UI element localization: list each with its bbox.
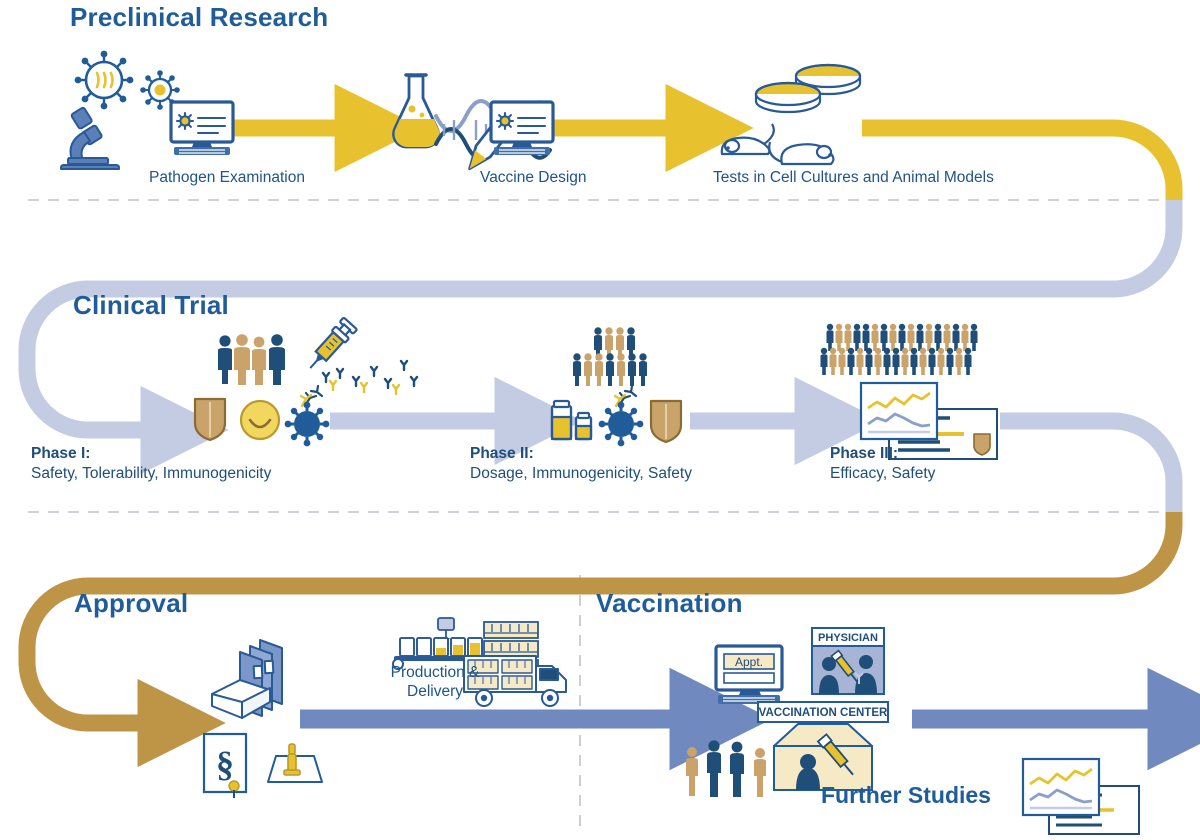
stamp-icon	[258, 740, 324, 786]
uturn-2-upper-lightblue	[1000, 421, 1174, 512]
monitor-icon	[168, 100, 238, 158]
vaccination-center-sign-label: VACCINATION CENTER	[759, 707, 888, 719]
queue-people-icon	[684, 740, 770, 798]
binders-icon	[210, 636, 300, 726]
people-group-phase3-icon	[826, 322, 1016, 376]
people-group-phase1-icon	[216, 334, 288, 386]
phase-3-subtitle: Efficacy, Safety	[830, 464, 935, 484]
chart-card-icon	[860, 382, 938, 440]
virus-antibody-icon	[284, 386, 336, 444]
phase-1-block: Phase I: Safety, Tolerability, Immunogen…	[31, 444, 271, 484]
uturn-2-entry-into-approval	[27, 655, 155, 723]
people-group-phase2-icon	[572, 326, 676, 388]
paragraph-doc-icon: §	[202, 732, 248, 798]
phase-1-subtitle: Safety, Tolerability, Immunogenicity	[31, 464, 271, 484]
caption-vaccine-design: Vaccine Design	[480, 168, 587, 187]
uturn-2-lower-gold	[27, 512, 1174, 655]
phase-2-heading: Phase II:	[470, 444, 692, 464]
vial-icon	[548, 400, 600, 442]
section-title-vaccination: Vaccination	[596, 588, 743, 619]
appt-screen-label: Appt.	[735, 655, 763, 669]
uturn-1-entry-into-clinical	[27, 352, 158, 430]
monitor-icon	[488, 100, 558, 158]
shield-icon	[648, 398, 684, 444]
smiley-icon	[238, 398, 282, 442]
physician-sign-label: PHYSICIAN	[818, 632, 878, 644]
petri-dish-icon	[750, 60, 870, 122]
caption-tests-cell-cultures: Tests in Cell Cultures and Animal Models	[713, 168, 994, 187]
caption-production-delivery: Production & Delivery	[380, 663, 490, 702]
phase-3-heading: Phase III:	[830, 444, 935, 464]
microscope-icon	[58, 108, 130, 170]
physician-booth-icon: PHYSICIAN	[806, 626, 890, 698]
diagram-canvas: §	[0, 0, 1200, 840]
phase-2-subtitle: Dosage, Immunogenicity, Safety	[470, 464, 692, 484]
monitor-appt-icon: Appt.	[712, 644, 788, 708]
section-title-preclinical: Preclinical Research	[70, 2, 328, 33]
caption-production-delivery-line2: Delivery	[407, 683, 463, 700]
caption-pathogen-examination: Pathogen Examination	[149, 168, 305, 187]
caption-production-delivery-line1: Production &	[391, 664, 480, 681]
section-title-approval: Approval	[74, 588, 188, 619]
further-studies-label: Further Studies	[821, 782, 991, 809]
shield-icon	[192, 396, 228, 442]
mouse-icon	[712, 118, 872, 170]
chart-card-icon	[1022, 758, 1100, 816]
virus-antibody-icon	[598, 386, 650, 444]
section-title-clinical-trial: Clinical Trial	[73, 290, 229, 321]
svg-text:§: §	[216, 744, 234, 784]
uturn-1-upper-yellow	[862, 128, 1174, 200]
phase-3-block: Phase III: Efficacy, Safety	[830, 444, 935, 484]
phase-1-heading: Phase I:	[31, 444, 271, 464]
phase-2-block: Phase II: Dosage, Immunogenicity, Safety	[470, 444, 692, 484]
